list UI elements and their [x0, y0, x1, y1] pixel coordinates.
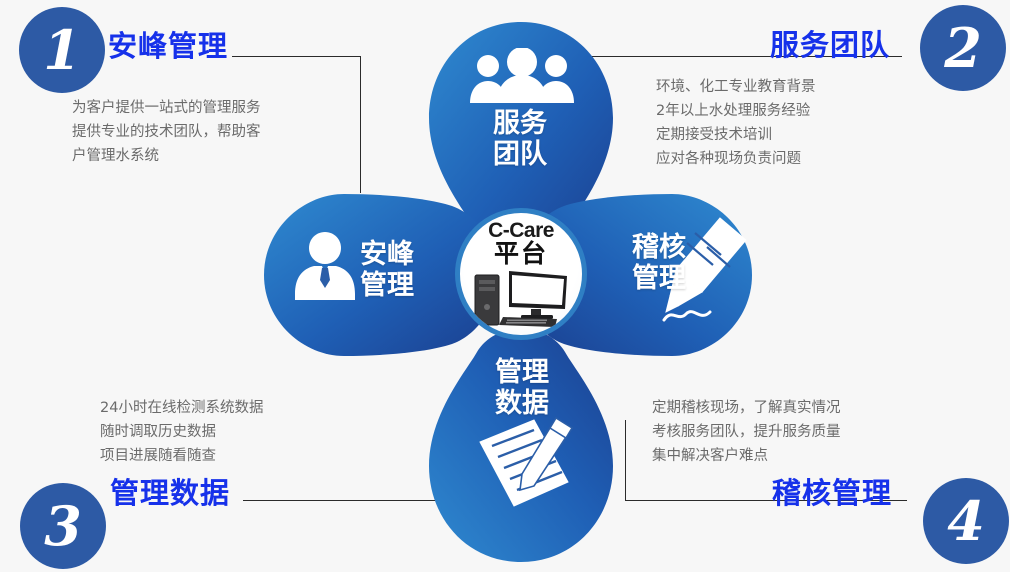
connector-line-3-horizontal — [243, 500, 454, 501]
body-line: 提供专业的技术团队，帮助客 — [72, 120, 261, 144]
body-line: 环境、化工专业教育背景 — [656, 75, 816, 99]
petal-label-management-data: 管理 数据 — [478, 357, 566, 419]
connector-line-1-horizontal — [232, 56, 361, 57]
body-line: 24小时在线检测系统数据 — [100, 396, 263, 420]
desktop-computer-icon — [469, 267, 573, 333]
step-number-1: 1 — [43, 23, 81, 77]
body-line: 户管理水系统 — [72, 144, 261, 168]
quadrant-title-1: 安峰管理 — [108, 23, 228, 65]
body-line: 为客户提供一站式的管理服务 — [72, 96, 261, 120]
center-hub-c-care-platform[interactable]: C-Care 平台 — [455, 208, 587, 340]
quadrant-title-4: 稽核管理 — [772, 470, 892, 512]
quadrant-body-4: 定期稽核现场，了解真实情况 考核服务团队，提升服务质量 集中解决客户难点 — [652, 396, 841, 468]
body-line: 应对各种现场负责问题 — [656, 147, 816, 171]
step-number-badge-3: 3 — [20, 483, 106, 569]
body-line: 随时调取历史数据 — [100, 420, 263, 444]
infographic-canvas: 1 2 3 4 安峰管理 服务团队 管理数据 稽核管理 为客户提供一站式的管理服… — [0, 0, 1010, 572]
body-line: 定期接受技术培训 — [656, 123, 816, 147]
body-line: 定期稽核现场，了解真实情况 — [652, 396, 841, 420]
connector-line-1-vertical — [360, 56, 361, 193]
quadrant-body-1: 为客户提供一站式的管理服务 提供专业的技术团队，帮助客 户管理水系统 — [72, 96, 261, 168]
step-number-badge-1: 1 — [19, 7, 105, 93]
quadrant-title-3: 管理数据 — [110, 470, 230, 512]
body-line: 集中解决客户难点 — [652, 444, 841, 468]
body-line: 考核服务团队，提升服务质量 — [652, 420, 841, 444]
connector-line-4-vertical — [625, 420, 626, 501]
clipboard-pencil-icon — [472, 412, 582, 516]
people-group-icon — [466, 48, 578, 110]
quadrant-body-3: 24小时在线检测系统数据 随时调取历史数据 项目进展随看随查 — [100, 396, 263, 468]
body-line: 2年以上水处理服务经验 — [656, 99, 816, 123]
petal-label-audit-management: 稽核 管理 — [617, 232, 701, 294]
quadrant-title-2: 服务团队 — [770, 22, 890, 64]
step-number-2: 2 — [944, 21, 982, 75]
quadrant-body-2: 环境、化工专业教育背景 2年以上水处理服务经验 定期接受技术培训 应对各种现场负… — [656, 75, 816, 171]
step-number-3: 3 — [44, 499, 82, 553]
step-number-4: 4 — [947, 494, 985, 548]
step-number-badge-2: 2 — [920, 5, 1006, 91]
body-line: 项目进展随看随查 — [100, 444, 263, 468]
step-number-badge-4: 4 — [923, 478, 1009, 564]
hub-subtitle: 平台 — [494, 241, 548, 266]
petal-label-anfeng-management: 安峰 管理 — [345, 239, 429, 301]
petal-label-service-team: 服务 团队 — [476, 108, 564, 170]
